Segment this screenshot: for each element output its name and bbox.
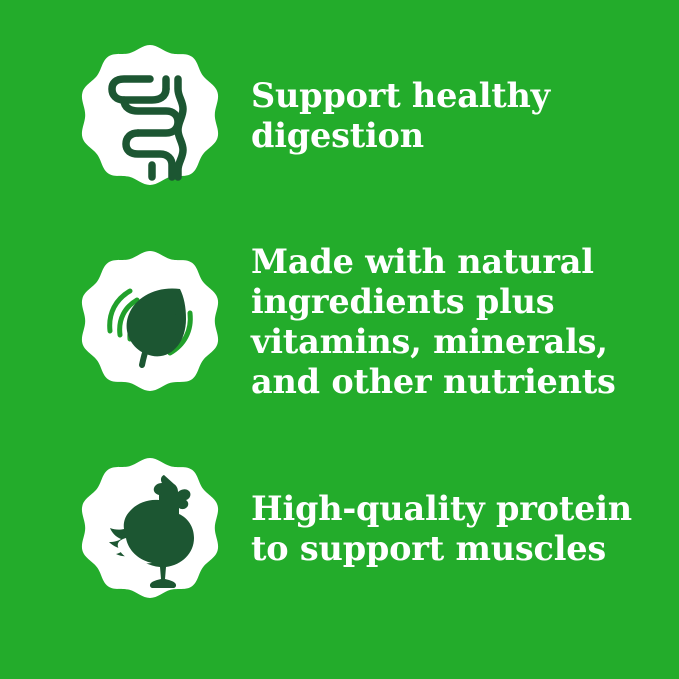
badge-chicken	[80, 456, 220, 602]
benefit-text: High-quality protein to support muscles	[251, 489, 679, 569]
benefit-row: High-quality protein to support muscles	[0, 456, 679, 602]
benefits-panel: Support healthy digestion	[0, 0, 679, 679]
benefit-row: Support healthy digestion	[0, 44, 679, 188]
badge-intestine	[80, 43, 220, 189]
badge-leaf	[80, 249, 220, 395]
benefit-text: Support healthy digestion	[251, 76, 679, 156]
benefit-text: Made with natural ingredients plus vitam…	[251, 242, 679, 402]
benefit-row: Made with natural ingredients plus vitam…	[0, 248, 679, 396]
